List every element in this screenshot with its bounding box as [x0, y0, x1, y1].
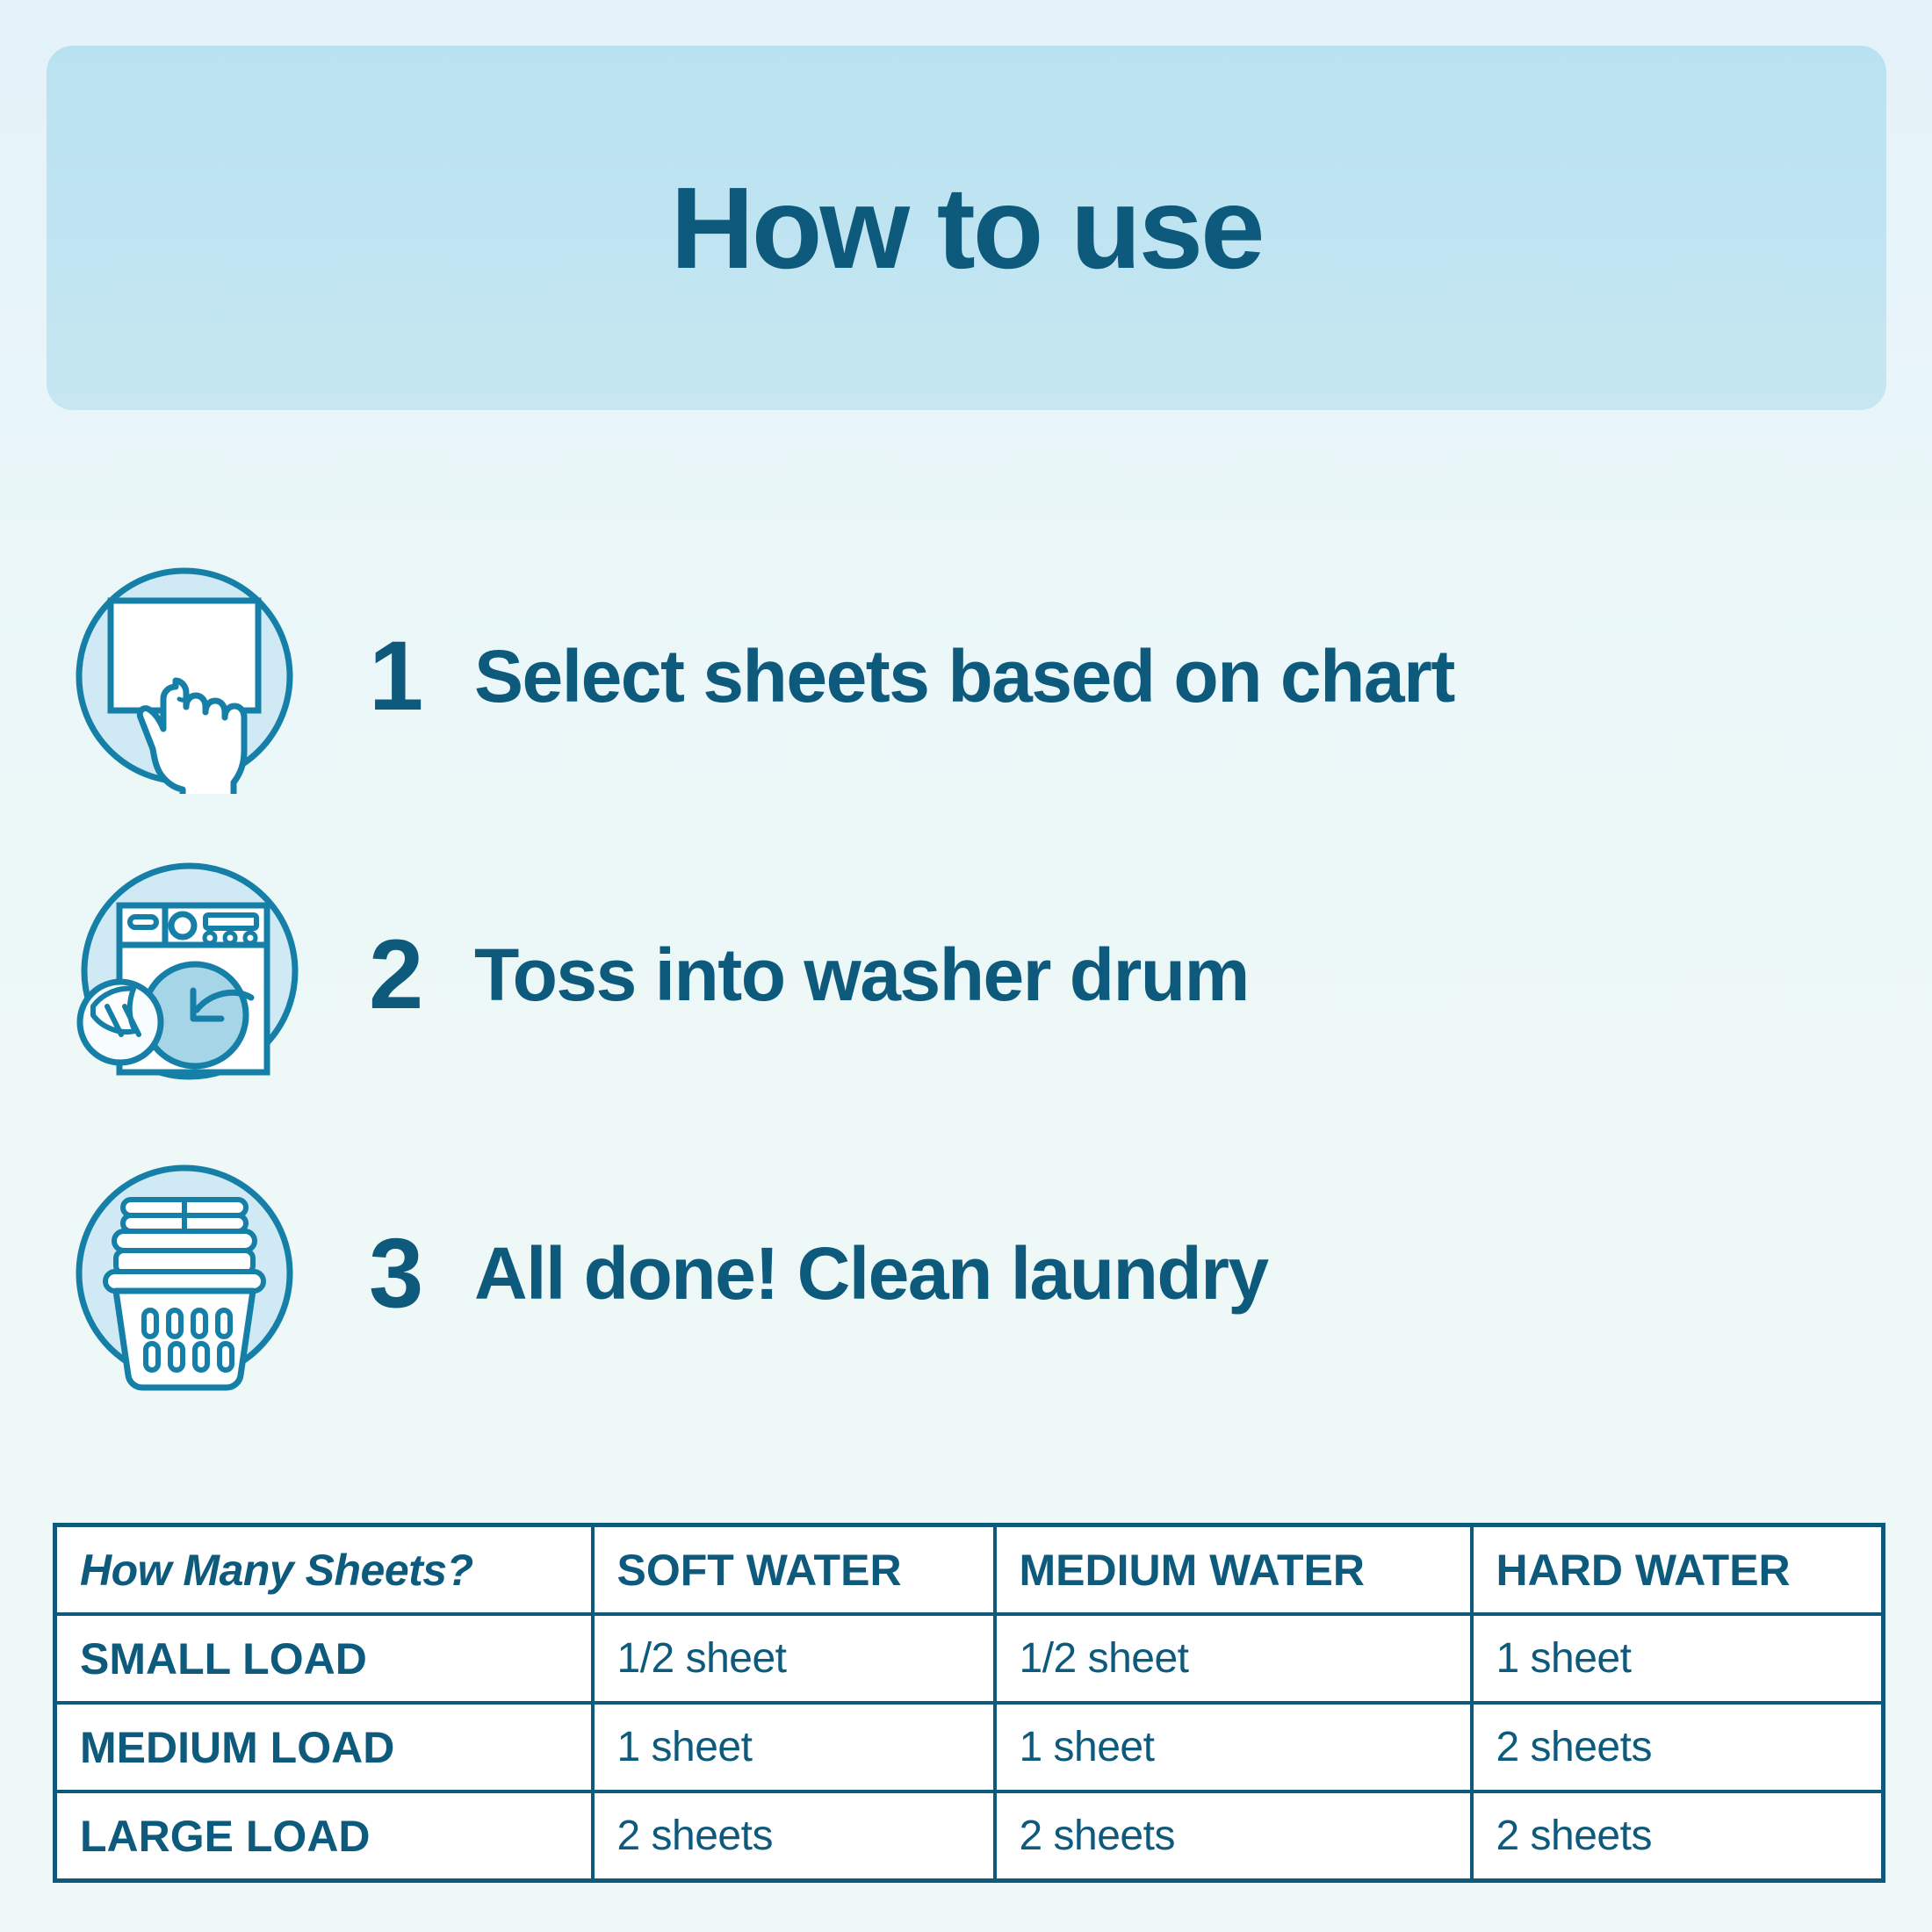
- header-panel: How to use: [47, 46, 1886, 410]
- cell-medium-hard: 2 sheets: [1472, 1703, 1884, 1791]
- column-header-hard-water: HARD WATER: [1472, 1525, 1884, 1615]
- cell-large-hard: 2 sheets: [1472, 1791, 1884, 1881]
- cell-large-medium: 2 sheets: [995, 1791, 1472, 1881]
- row-label-small-load: SMALL LOAD: [55, 1614, 593, 1703]
- step-row: 1 Select sheets based on chart: [0, 527, 1932, 825]
- step-row: 3 All done! Clean laundry: [0, 1124, 1932, 1423]
- table-row: MEDIUM LOAD 1 sheet 1 sheet 2 sheets: [55, 1703, 1884, 1791]
- step-row: 2 Toss into washer drum: [0, 825, 1932, 1124]
- cell-small-medium: 1/2 sheet: [995, 1614, 1472, 1703]
- step-number: 2: [369, 926, 474, 1024]
- step-number: 1: [369, 627, 474, 725]
- column-header-question: How Many Sheets?: [55, 1525, 593, 1615]
- table-row: LARGE LOAD 2 sheets 2 sheets 2 sheets: [55, 1791, 1884, 1881]
- column-header-medium-water: MEDIUM WATER: [995, 1525, 1472, 1615]
- step-icon-container: [0, 559, 369, 794]
- column-header-soft-water: SOFT WATER: [593, 1525, 995, 1615]
- cell-large-soft: 2 sheets: [593, 1791, 995, 1881]
- table-row: SMALL LOAD 1/2 sheet 1/2 sheet 1 sheet: [55, 1614, 1884, 1703]
- sheets-chart-table: How Many Sheets? SOFT WATER MEDIUM WATER…: [53, 1523, 1885, 1883]
- hand-holding-sheet-icon: [67, 559, 302, 794]
- step-label: Select sheets based on chart: [474, 638, 1454, 715]
- page-title: How to use: [670, 170, 1262, 286]
- step-label: All done! Clean laundry: [474, 1235, 1268, 1312]
- washing-machine-icon: [67, 857, 302, 1092]
- laundry-basket-icon: [67, 1156, 302, 1391]
- step-icon-container: [0, 1156, 369, 1391]
- steps-list: 1 Select sheets based on chart: [0, 527, 1932, 1423]
- cell-small-soft: 1/2 sheet: [593, 1614, 995, 1703]
- step-number: 3: [369, 1224, 474, 1323]
- row-label-medium-load: MEDIUM LOAD: [55, 1703, 593, 1791]
- cell-small-hard: 1 sheet: [1472, 1614, 1884, 1703]
- step-icon-container: [0, 857, 369, 1092]
- table-header-row: How Many Sheets? SOFT WATER MEDIUM WATER…: [55, 1525, 1884, 1615]
- cell-medium-soft: 1 sheet: [593, 1703, 995, 1791]
- step-label: Toss into washer drum: [474, 936, 1249, 1013]
- cell-medium-medium: 1 sheet: [995, 1703, 1472, 1791]
- row-label-large-load: LARGE LOAD: [55, 1791, 593, 1881]
